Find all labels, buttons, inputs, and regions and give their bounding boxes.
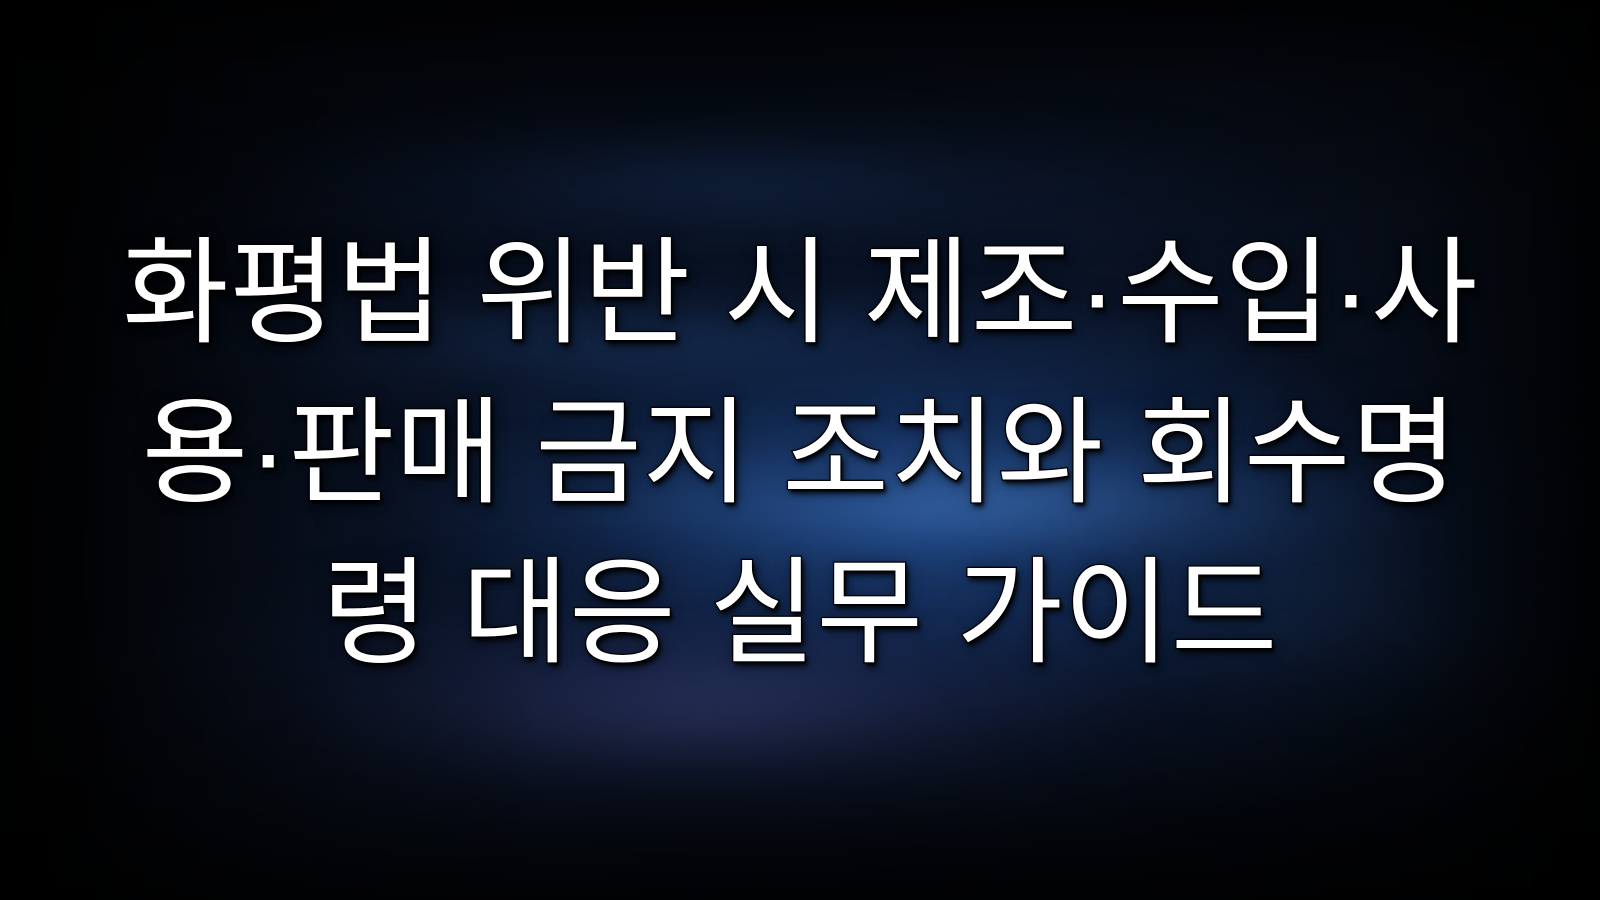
title-slide: 화평법 위반 시 제조·수입·사 용·판매 금지 조치와 회수명 령 대응 실무… <box>0 0 1600 900</box>
title-line-1: 화평법 위반 시 제조·수입·사 <box>122 213 1478 373</box>
title-line-2: 용·판매 금지 조치와 회수명 <box>142 373 1459 533</box>
slide-title: 화평법 위반 시 제조·수입·사 용·판매 금지 조치와 회수명 령 대응 실무… <box>0 0 1600 900</box>
title-line-3: 령 대응 실무 가이드 <box>322 533 1278 693</box>
